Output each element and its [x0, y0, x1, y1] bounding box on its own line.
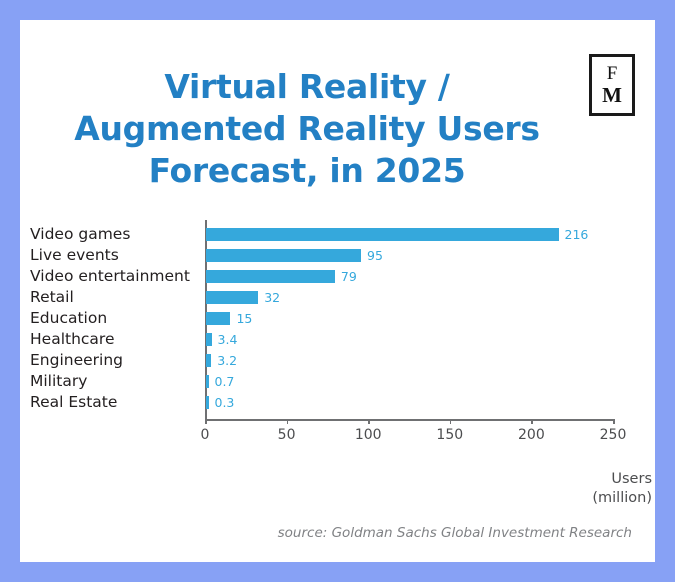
bar-chart: Video gamesLive eventsVideo entertainmen…	[20, 210, 655, 480]
bar-value-label: 79	[341, 269, 357, 284]
category-label: Real Estate	[30, 392, 205, 413]
category-label: Live events	[30, 245, 205, 266]
bar-row: 15	[205, 308, 645, 329]
x-tick-label: 200	[518, 427, 545, 443]
title-line-2: Augmented Reality Users	[42, 108, 572, 150]
bar-value-label: 0.7	[215, 374, 235, 389]
title-line-1: Virtual Reality /	[42, 66, 572, 108]
bar	[206, 291, 258, 304]
bar-value-label: 95	[367, 248, 383, 263]
logo-letter-f: F	[607, 64, 618, 83]
bar	[206, 396, 209, 409]
bar-value-label: 15	[236, 311, 252, 326]
bar	[206, 354, 211, 367]
bar	[206, 270, 335, 283]
category-label: Engineering	[30, 350, 205, 371]
bar-value-label: 32	[264, 290, 280, 305]
x-tick-mark	[531, 419, 533, 424]
x-axis-ticks: 050100150200250	[205, 419, 625, 449]
bars-plot-area: 216957932153.43.20.70.3050100150200250	[205, 224, 645, 434]
bar-row: 79	[205, 266, 645, 287]
category-label: Healthcare	[30, 329, 205, 350]
x-tick-mark	[205, 419, 207, 424]
chart-canvas: F M Virtual Reality / Augmented Reality …	[20, 20, 655, 562]
bar-row: 0.7	[205, 371, 645, 392]
category-label: Video entertainment	[30, 266, 205, 287]
bar-value-label: 3.4	[218, 332, 238, 347]
finance-magnates-logo: F M	[589, 54, 635, 116]
x-tick-mark	[287, 419, 289, 424]
logo-letter-m: M	[602, 85, 622, 106]
category-label: Education	[30, 308, 205, 329]
bar-value-label: 3.2	[217, 353, 237, 368]
bar-row: 3.4	[205, 329, 645, 350]
category-axis-labels: Video gamesLive eventsVideo entertainmen…	[30, 224, 205, 413]
bar	[206, 249, 361, 262]
x-tick-label: 100	[355, 427, 382, 443]
bar-row: 3.2	[205, 350, 645, 371]
x-tick-mark	[450, 419, 452, 424]
title-line-3: Forecast, in 2025	[42, 150, 572, 192]
x-axis-title-line-1: Users	[560, 470, 652, 489]
x-tick-label: 150	[436, 427, 463, 443]
bar-row: 32	[205, 287, 645, 308]
bar-value-label: 216	[565, 227, 589, 242]
x-tick-mark	[368, 419, 370, 424]
x-tick-label: 0	[201, 427, 210, 443]
x-tick-label: 250	[600, 427, 627, 443]
x-tick-mark	[613, 419, 615, 424]
category-label: Retail	[30, 287, 205, 308]
category-label: Military	[30, 371, 205, 392]
bar-value-label: 0.3	[215, 395, 235, 410]
bar	[206, 375, 209, 388]
x-axis-title: Users (million)	[560, 470, 652, 508]
source-note: source: Goldman Sachs Global Investment …	[20, 525, 632, 541]
infographic-frame: F M Virtual Reality / Augmented Reality …	[0, 0, 675, 582]
bar	[206, 228, 559, 241]
page-title: Virtual Reality / Augmented Reality User…	[42, 66, 572, 192]
bar-row: 95	[205, 245, 645, 266]
bar-row: 0.3	[205, 392, 645, 413]
bar	[206, 312, 230, 325]
x-tick-label: 50	[278, 427, 296, 443]
x-axis-title-line-2: (million)	[560, 489, 652, 508]
bar-row: 216	[205, 224, 645, 245]
category-label: Video games	[30, 224, 205, 245]
bar	[206, 333, 212, 346]
